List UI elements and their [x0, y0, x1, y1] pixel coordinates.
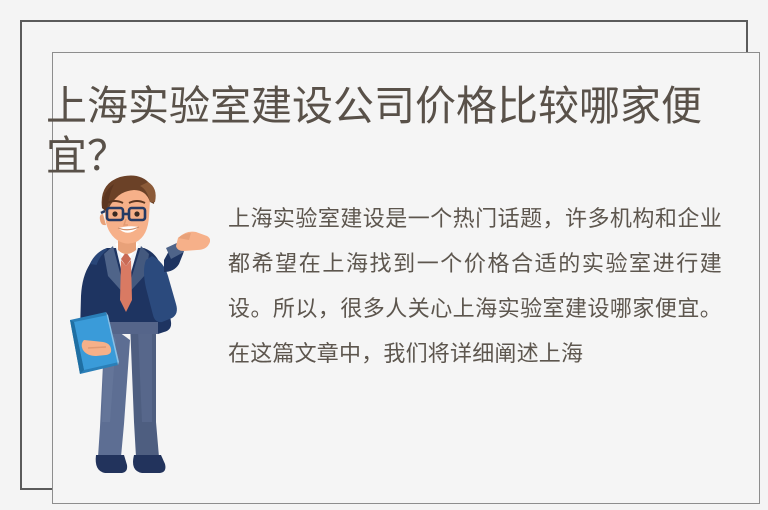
right-eye	[134, 211, 139, 216]
right-shoe	[133, 455, 165, 473]
page-title: 上海实验室建设公司价格比较哪家便宜？	[46, 81, 736, 181]
right-hand	[176, 232, 210, 251]
left-eye	[112, 211, 117, 216]
left-hand-fingers	[88, 347, 106, 348]
article-body-text: 上海实验室建设是一个热门话题，许多机构和企业都希望在上海找到一个价格合适的实验室…	[228, 196, 722, 376]
businessman-illustration	[60, 172, 210, 482]
page-root: 上海实验室建设公司价格比较哪家便宜？	[0, 0, 768, 510]
left-shoe	[96, 455, 127, 473]
